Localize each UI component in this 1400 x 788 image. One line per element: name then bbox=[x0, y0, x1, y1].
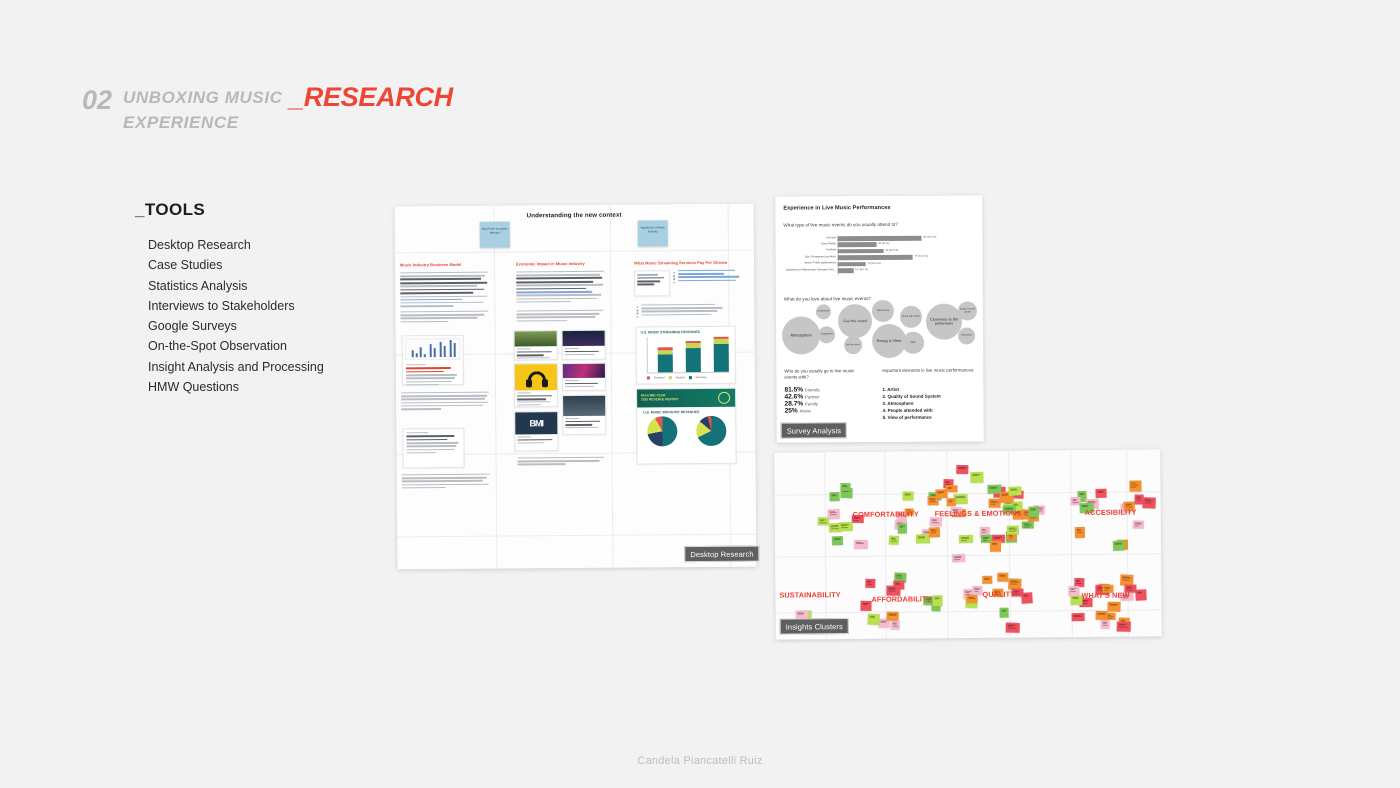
sticky-note[interactable] bbox=[1129, 481, 1141, 492]
bubble: feel the music bbox=[844, 336, 862, 354]
cluster-label: SUSTAINABILITY bbox=[779, 590, 840, 600]
tools-list-item: On-the-Spot Observation bbox=[148, 336, 324, 356]
bar-value: 77 (71.3 %) bbox=[915, 255, 928, 258]
sticky-note[interactable] bbox=[1100, 619, 1110, 628]
companion-label: Family bbox=[805, 401, 818, 406]
sticky-note[interactable] bbox=[959, 535, 973, 543]
sticky-note[interactable] bbox=[1143, 497, 1156, 509]
companion-label: Partner bbox=[805, 394, 819, 399]
bar-label: Bar / Restaurant Live Music bbox=[805, 255, 836, 258]
slide-subtitle-line2: EXPERIENCE bbox=[123, 111, 283, 136]
sticky-note[interactable] bbox=[1107, 601, 1120, 611]
survey-question-1: What type of live music events do you us… bbox=[783, 221, 963, 229]
article-card[interactable] bbox=[562, 330, 606, 360]
sticky-note[interactable] bbox=[1133, 520, 1144, 528]
sticky-note[interactable] bbox=[1029, 506, 1040, 517]
sticky-note[interactable] bbox=[840, 483, 850, 492]
bubble-chart: AtmosphereauthenticityEngagementFeel the… bbox=[775, 195, 982, 196]
board-title: Understanding the new context bbox=[395, 211, 754, 221]
bubble: authenticity bbox=[816, 304, 831, 319]
paragraph-block bbox=[518, 457, 606, 467]
survey-question-3: Who do you usually go to live music even… bbox=[784, 368, 862, 381]
sticky-notes-layer bbox=[774, 449, 1160, 452]
board-caption: Desktop Research bbox=[684, 546, 759, 563]
article-card[interactable] bbox=[402, 428, 464, 468]
survey-question-2: What do you love about live music events… bbox=[784, 295, 964, 303]
page-title: _RESEARCH bbox=[289, 84, 453, 111]
companion-stats: 81.5% Friends42.6% Partner28.7% Family25… bbox=[784, 386, 819, 414]
column-heading: What Music Streaming Services Pay Per St… bbox=[634, 260, 727, 266]
paragraph-block bbox=[401, 392, 489, 412]
tools-list-item: Case Studies bbox=[148, 255, 324, 275]
sticky-note[interactable] bbox=[1072, 613, 1085, 621]
bar-chart-card: U.S. MUSIC STREAMING REVENUES Download P… bbox=[636, 326, 736, 385]
cluster-label: QUALITY bbox=[982, 590, 1015, 599]
sticky-note[interactable] bbox=[952, 554, 965, 562]
slide-header: 02 UNBOXING MUSIC EXPERIENCE _RESEARCH bbox=[82, 86, 453, 135]
important-element-item: 5. View of performance bbox=[883, 414, 941, 421]
panel-caption: Survey Analysis bbox=[781, 422, 848, 438]
bubble: Artist on live bbox=[872, 300, 894, 322]
sticky-note[interactable] bbox=[832, 536, 844, 546]
sticky-note[interactable] bbox=[889, 535, 899, 544]
slide-subtitle: UNBOXING MUSIC EXPERIENCE bbox=[123, 86, 283, 135]
important-elements-list: 1. Artist2. Quality of Sound System3. At… bbox=[882, 386, 940, 422]
bar-label: Concerts bbox=[826, 236, 836, 239]
cluster-label: FEELINGS & EMOTIONS bbox=[935, 509, 1022, 519]
sticky-note[interactable] bbox=[932, 596, 943, 607]
sticky-note[interactable] bbox=[1022, 521, 1034, 528]
bar-label: Festivals bbox=[826, 249, 836, 252]
sticky-note[interactable] bbox=[935, 489, 948, 499]
article-card[interactable] bbox=[562, 363, 606, 391]
tools-list-item: Insight Analysis and Processing bbox=[148, 357, 324, 377]
sticky-note[interactable] bbox=[990, 540, 1001, 551]
bar-label: Street / Public performances bbox=[805, 261, 837, 264]
insights-clusters-board[interactable]: COMFORTABILITYFEELINGS & EMOTIONSACCESIB… bbox=[774, 449, 1162, 639]
link-list[interactable] bbox=[678, 270, 744, 283]
bubble: Atmosphere bbox=[782, 316, 820, 354]
cluster-label: AFFORDABILITY bbox=[871, 594, 931, 604]
important-elements-heading: Important elements in live music perform… bbox=[882, 367, 974, 374]
sticky-note[interactable]: Main Point recognize affected bbox=[480, 222, 510, 248]
bar-row: Festivals47 (43.5 %) bbox=[838, 249, 884, 254]
board-caption: Insights Clusters bbox=[780, 618, 849, 635]
sticky-note[interactable] bbox=[867, 613, 879, 624]
bubble: quality of sound system bbox=[958, 301, 977, 320]
desktop-research-board[interactable]: Understanding the new context Main Point… bbox=[395, 204, 757, 570]
tools-heading: _TOOLS bbox=[135, 200, 324, 220]
bubble: lights bbox=[902, 332, 924, 354]
sticky-note[interactable] bbox=[817, 517, 828, 526]
tools-list: Desktop ResearchCase StudiesStatistics A… bbox=[135, 235, 324, 397]
bar-value: 16 (14.7 %) bbox=[855, 268, 868, 271]
tools-list-item: Google Surveys bbox=[148, 316, 324, 336]
column-heading: Economic Impact in Music Industry bbox=[516, 261, 585, 267]
sticky-note[interactable] bbox=[828, 509, 840, 520]
sticky-note[interactable] bbox=[970, 472, 983, 483]
article-card[interactable] bbox=[514, 330, 558, 360]
paragraph-block bbox=[516, 271, 604, 305]
sticky-note[interactable] bbox=[956, 465, 968, 474]
bar-row: Street / Public performances29 (26.9 %) bbox=[838, 262, 866, 267]
sticky-note[interactable] bbox=[1068, 586, 1079, 597]
cluster-labels-layer: COMFORTABILITYFEELINGS & EMOTIONSACCESIB… bbox=[774, 449, 1160, 452]
sticky-note[interactable] bbox=[1005, 623, 1019, 633]
sticky-note[interactable] bbox=[853, 540, 867, 549]
bubble: Feel the crowd bbox=[838, 304, 872, 338]
article-card[interactable]: BMI bbox=[514, 411, 558, 451]
bubble: enthusiasm bbox=[958, 327, 975, 344]
slide-subtitle-line1: UNBOXING MUSIC bbox=[123, 86, 283, 111]
sticky-note[interactable] bbox=[972, 586, 982, 595]
sticky-note[interactable] bbox=[891, 620, 901, 629]
sticky-note[interactable] bbox=[966, 595, 977, 603]
sticky-note[interactable] bbox=[902, 491, 913, 501]
bar-value: 29 (26.9 %) bbox=[868, 262, 881, 265]
bubble: Energy & Vibes bbox=[872, 324, 906, 358]
sticky-note[interactable] bbox=[997, 573, 1008, 582]
tools-list-item: Desktop Research bbox=[148, 235, 324, 255]
bullet-list bbox=[641, 304, 736, 318]
bar-row: Disco Parties40 (37 %) bbox=[838, 242, 877, 247]
sticky-note[interactable] bbox=[1112, 540, 1125, 551]
source-card[interactable] bbox=[634, 270, 670, 296]
companion-label: Friends bbox=[805, 387, 820, 392]
tools-section: _TOOLS Desktop ResearchCase StudiesStati… bbox=[135, 200, 324, 397]
bar-label: Disco Parties bbox=[821, 242, 836, 245]
footer-author: Candela Piancatelli Ruiz bbox=[0, 755, 1400, 767]
tools-list-item: HMW Questions bbox=[148, 377, 324, 397]
survey-analysis-panel[interactable]: Experience in Live Music Performances Wh… bbox=[775, 195, 983, 442]
bar-value: 86 (79.6 %) bbox=[923, 236, 936, 239]
bar-value: 47 (43.5 %) bbox=[885, 249, 898, 252]
sticky-note[interactable] bbox=[982, 575, 992, 583]
sticky-note[interactable] bbox=[886, 611, 898, 620]
sticky-note[interactable] bbox=[839, 521, 853, 530]
sticky-note[interactable] bbox=[1009, 486, 1022, 495]
paragraph-block bbox=[400, 272, 488, 309]
article-card[interactable] bbox=[562, 395, 606, 435]
paragraph-block bbox=[516, 310, 604, 324]
bubble: Closeness to the performers bbox=[926, 303, 962, 339]
column-heading: Music Industry Business Model bbox=[400, 262, 461, 267]
slide-number: 02 bbox=[82, 86, 112, 114]
bar-row: Symphony or Philharmonic Orchestra Conc.… bbox=[838, 268, 854, 273]
bar-value: 40 (37 %) bbox=[878, 242, 889, 245]
sticky-note[interactable] bbox=[1007, 525, 1019, 535]
tools-list-item: Statistics Analysis bbox=[148, 276, 324, 296]
sticky-note[interactable] bbox=[866, 578, 876, 587]
bar-row: Bar / Restaurant Live Music77 (71.3 %) bbox=[838, 255, 913, 260]
sticky-note[interactable]: Importance of those industry bbox=[638, 220, 668, 246]
cluster-label: ACCESIBILITY bbox=[1085, 508, 1137, 517]
sticky-note[interactable] bbox=[929, 527, 940, 537]
cluster-label: WHAT'S NEW bbox=[1081, 591, 1129, 600]
survey-bar-chart: Concerts86 (79.6 %)Disco Parties40 (37 %… bbox=[775, 195, 982, 196]
sticky-note[interactable] bbox=[1117, 622, 1131, 632]
bar-label: Symphony or Philharmonic Orchestra Conc.… bbox=[786, 268, 836, 271]
sticky-note[interactable] bbox=[1075, 526, 1086, 537]
sticky-note[interactable] bbox=[999, 608, 1008, 619]
sticky-note[interactable] bbox=[916, 534, 930, 543]
companion-stat: 25% Alone bbox=[785, 407, 820, 414]
sticky-note[interactable] bbox=[897, 523, 906, 533]
sticky-note[interactable] bbox=[1021, 593, 1032, 604]
sticky-note[interactable] bbox=[1096, 610, 1108, 619]
sticky-note[interactable] bbox=[929, 517, 941, 526]
survey-heading: Experience in Live Music Performances bbox=[783, 204, 913, 213]
bubble: Engagement bbox=[818, 326, 835, 343]
bubble: Share with others bbox=[900, 306, 922, 328]
sticky-note[interactable] bbox=[1135, 589, 1146, 600]
pie-chart-card: RIAA MID-YEAR2020 REVENUE REPORT U.S. MU… bbox=[636, 388, 737, 465]
paragraph-block bbox=[400, 311, 488, 325]
companion-label: Alone bbox=[800, 408, 811, 413]
sticky-note[interactable] bbox=[946, 498, 955, 507]
bar-row: Concerts86 (79.6 %) bbox=[837, 236, 921, 241]
cluster-label: COMFORTABILITY bbox=[853, 509, 919, 519]
sticky-note[interactable] bbox=[1095, 489, 1106, 498]
paragraph-block bbox=[402, 474, 490, 491]
companion-pct: 25% bbox=[785, 408, 798, 415]
article-card[interactable] bbox=[402, 335, 464, 385]
sticky-note[interactable] bbox=[860, 600, 871, 610]
article-card[interactable] bbox=[514, 363, 558, 407]
sticky-note[interactable] bbox=[829, 492, 839, 502]
tools-list-item: Interviews to Stakeholders bbox=[148, 296, 324, 316]
